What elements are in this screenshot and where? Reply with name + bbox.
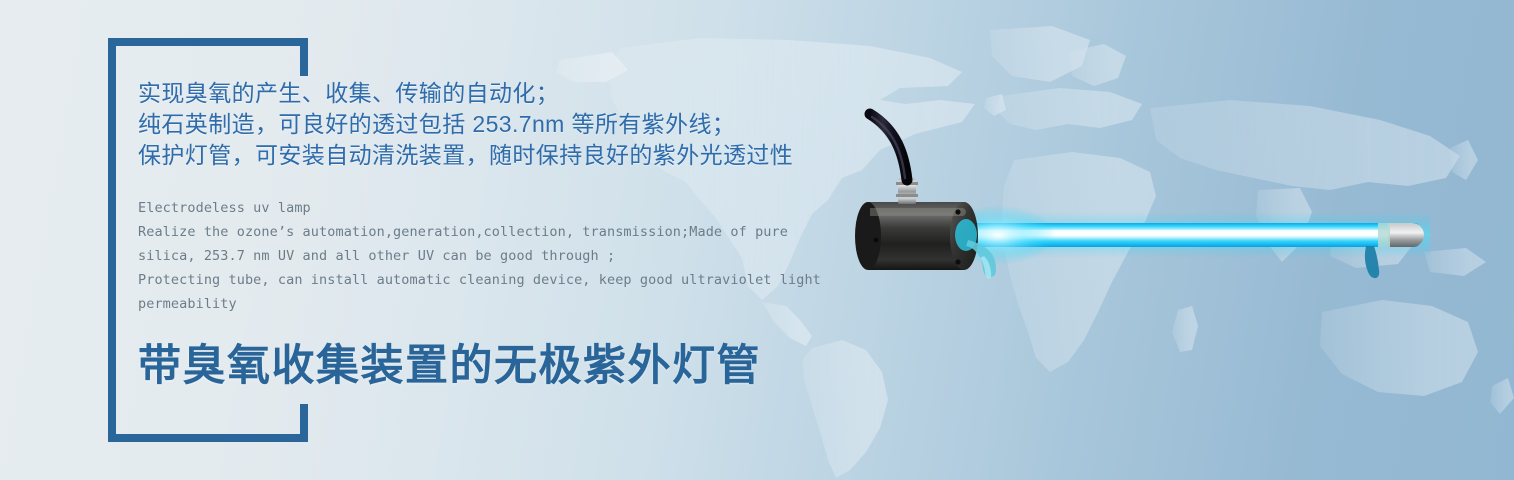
housing-aperture-glow [955,219,977,251]
page-title: 带臭氧收集装置的无极紫外灯管 [138,340,761,392]
uv-quartz-tube [965,223,1420,247]
feature-text-block: 实现臭氧的产生、收集、传输的自动化； 纯石英制造，可良好的透过包括 253.7n… [138,78,838,316]
housing-top-sheen [870,208,966,216]
end-hook-clip [1365,246,1379,278]
product-banner: 实现臭氧的产生、收集、传输的自动化； 纯石英制造，可良好的透过包括 253.7n… [0,0,1514,480]
tube-end-collar [1378,223,1390,247]
housing-screw-left [874,238,879,243]
english-feature-line-1: Electrodeless uv lamp [138,196,828,220]
uv-tube-glow [960,212,1430,258]
uv-emission-hotspot [940,205,1056,265]
frame-left-bar [108,38,116,442]
english-feature-line-5: permeability [138,292,828,316]
connector-ring-upper [896,182,918,185]
chinese-feature-list: 实现臭氧的产生、收集、传输的自动化； 纯石英制造，可良好的透过包括 253.7n… [138,78,838,171]
housing-screw-bottom [955,259,960,264]
housing-screw-top [955,209,960,214]
english-feature-line-2: Realize the ozone’s automation,generatio… [138,220,828,244]
frame-top-right-stub [300,38,308,76]
english-feature-list: Electrodeless uv lamp Realize the ozone’… [138,196,828,316]
product-image-uv-lamp [840,100,1460,330]
english-feature-line-4: Protecting tube, can install automatic c… [138,268,828,292]
power-cable-highlight [872,117,905,178]
chinese-feature-line-3: 保护灯管，可安装自动清洗装置，随时保持良好的紫外光透过性 [138,140,838,171]
ozone-collection-port [966,240,996,277]
frame-bottom-bar [108,434,308,442]
knurled-connector [898,178,916,204]
tube-end-cap [1388,223,1424,247]
ozone-port-highlight [980,256,991,279]
connector-ring-lower [896,194,918,197]
chinese-feature-line-2: 纯石英制造，可良好的透过包括 253.7nm 等所有紫外线； [138,109,838,140]
power-cable [870,114,907,180]
frame-top-bar [108,38,308,46]
frame-bottom-right-stub [300,404,308,442]
housing-body [868,202,964,270]
uv-tube-core-highlight [970,230,1415,236]
housing-back-face [855,202,881,270]
chinese-feature-line-1: 实现臭氧的产生、收集、传输的自动化； [138,78,838,109]
english-feature-line-3: silica, 253.7 nm UV and all other UV can… [138,244,828,268]
housing-front-face [950,202,978,270]
